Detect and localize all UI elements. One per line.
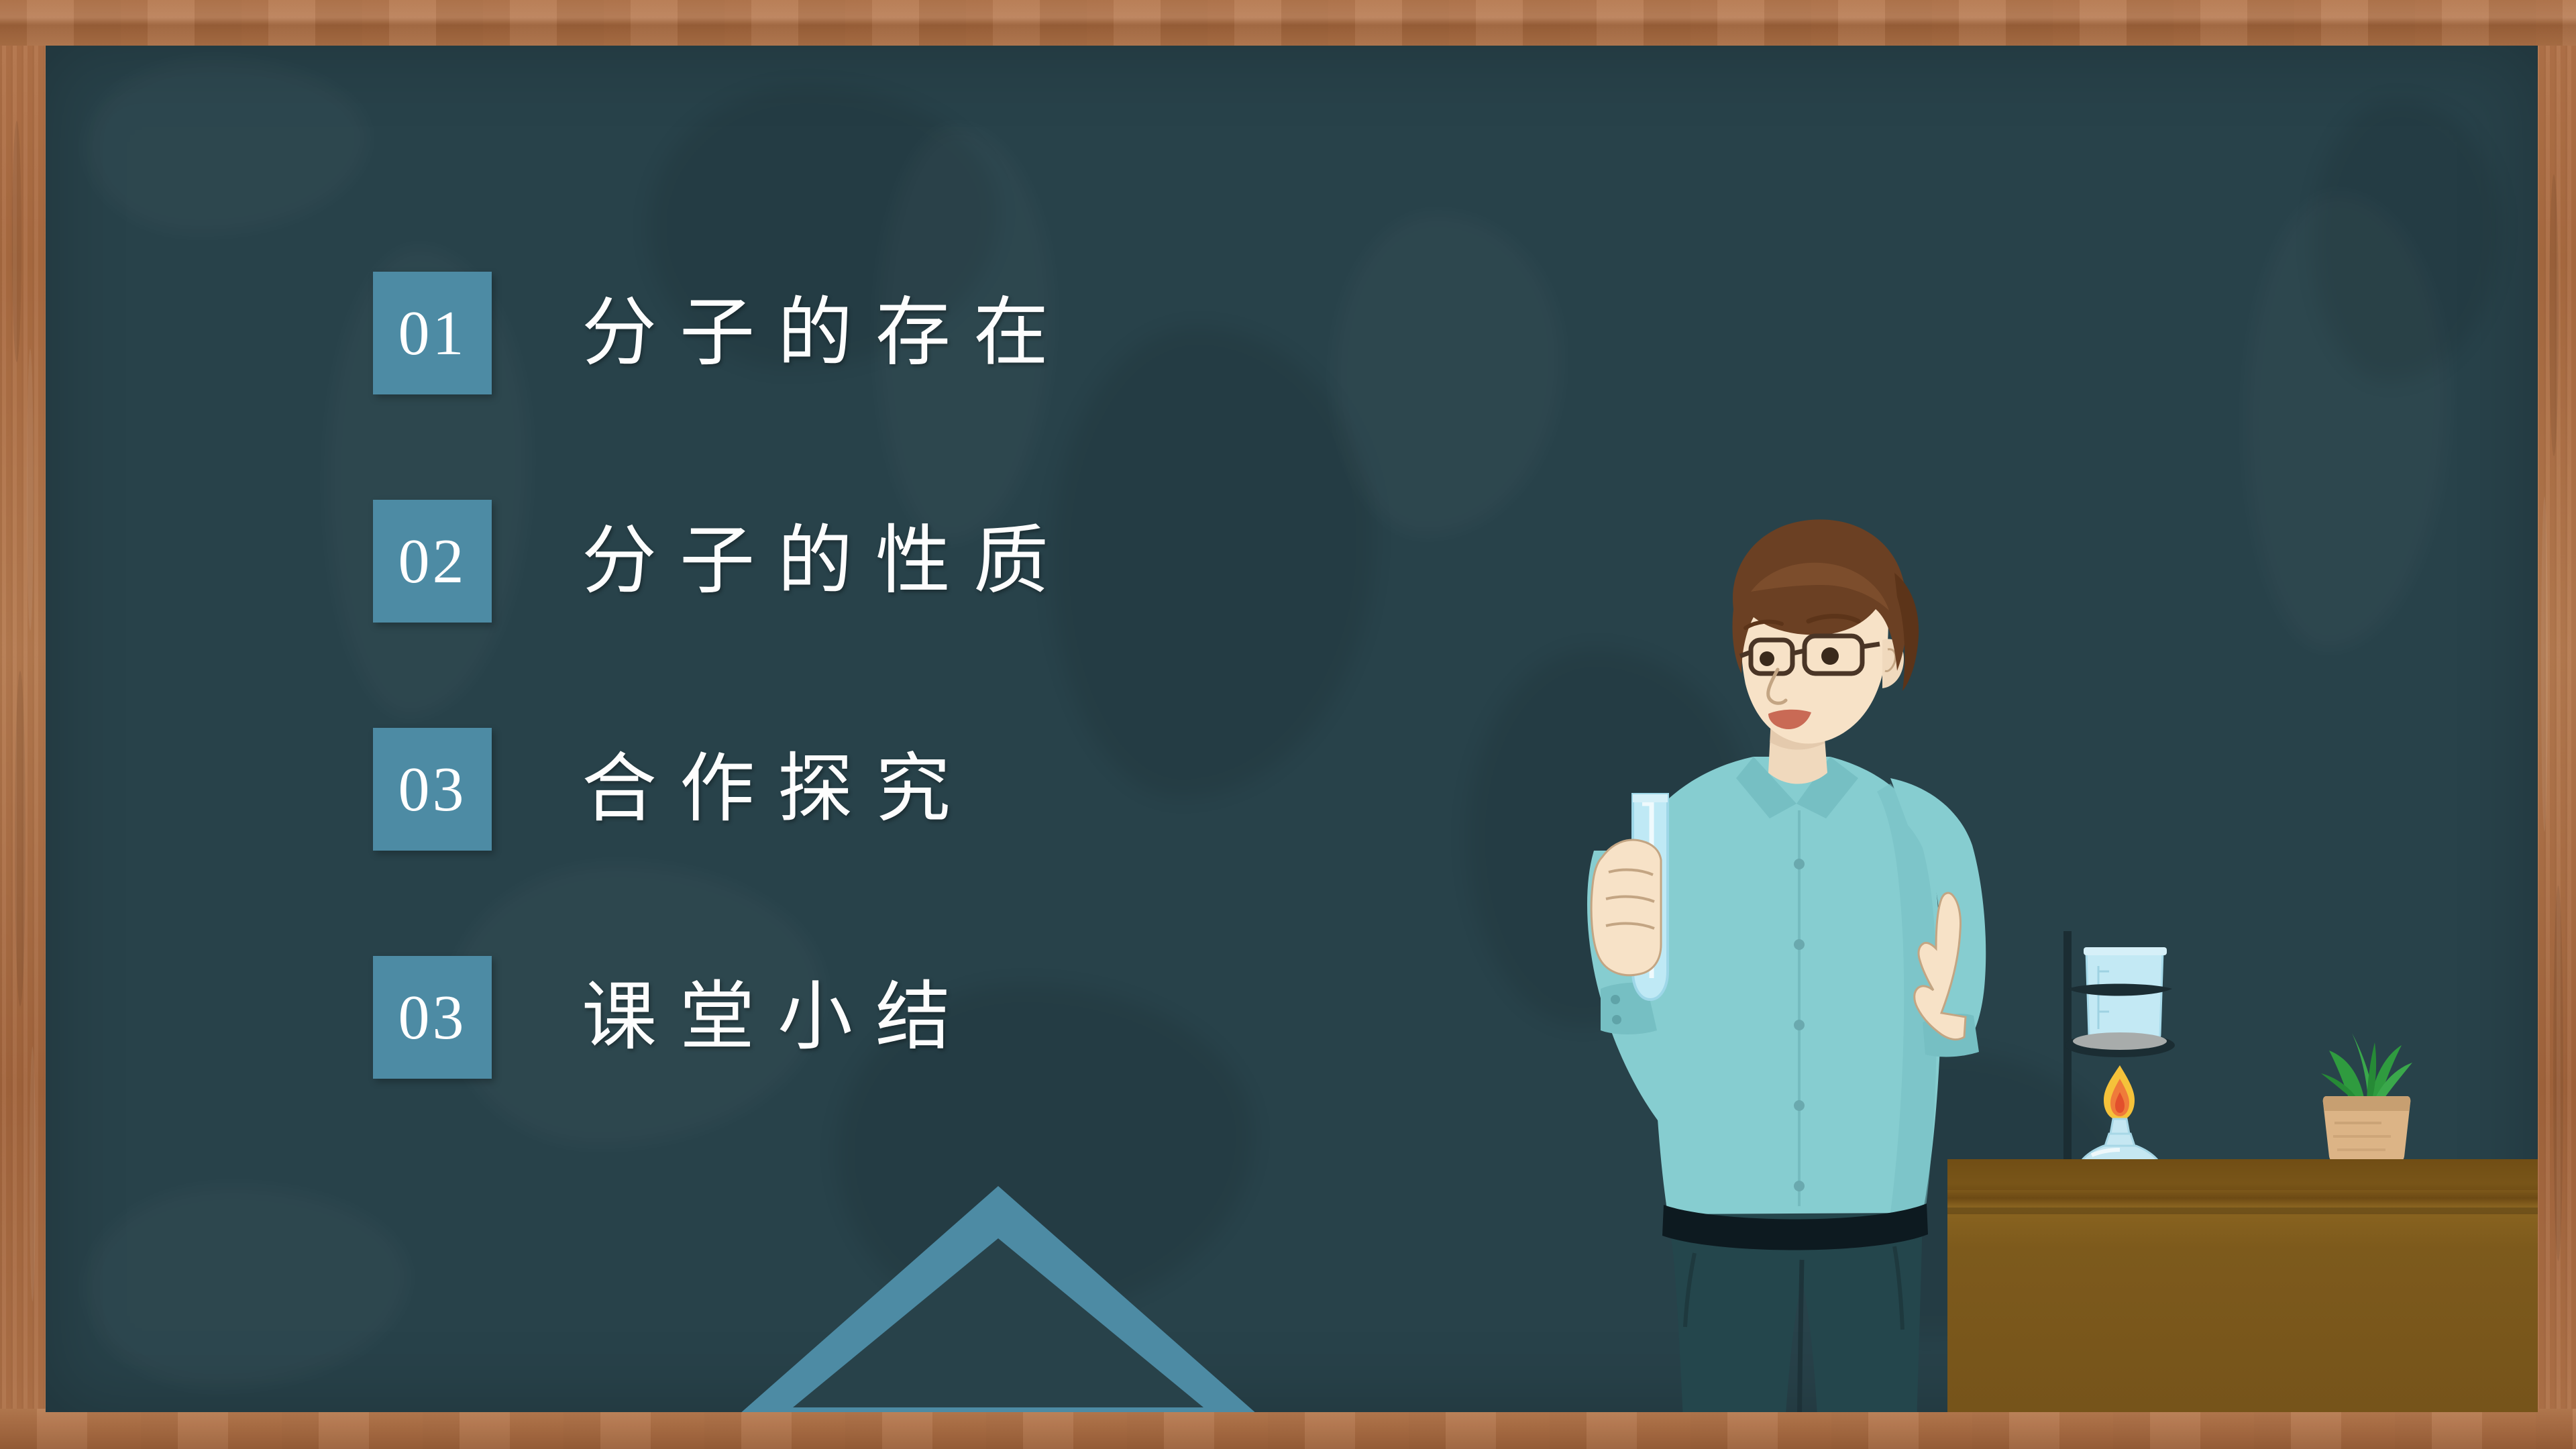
agenda-number-badge-2: 02 <box>373 500 492 623</box>
eye-left <box>1760 651 1774 666</box>
left-hand <box>1591 840 1661 975</box>
agenda-title-4: 课堂小结 <box>582 980 973 1055</box>
agenda-number-badge-4: 03 <box>373 956 492 1079</box>
teacher-figure <box>1515 515 1998 1412</box>
chalk-smudge <box>1334 213 1562 535</box>
agenda-title-3: 合作探究 <box>582 752 973 827</box>
shirt-button <box>1794 1100 1805 1111</box>
shirt-button <box>1794 1020 1805 1030</box>
agenda-item-4[interactable]: 03 课堂小结 <box>373 956 1312 1079</box>
shirt-button <box>1794 939 1805 950</box>
chalk-smudge <box>86 1186 408 1387</box>
plant-pot <box>2323 1096 2411 1163</box>
slide-canvas: 01 分子的存在 02 分子的性质 03 合作探究 03 课堂小结 <box>0 0 2576 1449</box>
shirt-button <box>1794 859 1805 869</box>
agenda-list: 01 分子的存在 02 分子的性质 03 合作探究 03 课堂小结 <box>373 272 1312 1184</box>
potted-plant <box>2306 1025 2427 1166</box>
shirt-button <box>1794 1181 1805 1191</box>
lab-desk <box>1947 1159 2538 1412</box>
agenda-item-3[interactable]: 03 合作探究 <box>373 728 1312 851</box>
agenda-title-2: 分子的性质 <box>582 524 1071 599</box>
desk-top-lip <box>1947 1159 2538 1190</box>
frame-bottom-rail <box>0 1409 2576 1449</box>
triangle-ruler <box>716 1186 1280 1412</box>
eye-right <box>1821 647 1839 665</box>
lab-apparatus <box>2045 924 2259 1179</box>
desk-edge-line <box>1947 1207 2538 1214</box>
beaker <box>2084 947 2167 1046</box>
chalk-smudge <box>2313 99 2501 381</box>
agenda-item-1[interactable]: 01 分子的存在 <box>373 272 1312 394</box>
wire-gauze <box>2073 1032 2167 1050</box>
flame-icon <box>2104 1065 2135 1120</box>
agenda-item-2[interactable]: 02 分子的性质 <box>373 500 1312 623</box>
ring-stand <box>2063 931 2072 1173</box>
agenda-number-badge-3: 03 <box>373 728 492 851</box>
plant-leaves <box>2321 1033 2412 1102</box>
chalk-smudge <box>86 59 368 233</box>
frame-top-rail <box>0 0 2576 46</box>
agenda-title-1: 分子的存在 <box>582 296 1071 371</box>
chalkboard-surface: 01 分子的存在 02 分子的性质 03 合作探究 03 课堂小结 <box>46 46 2538 1412</box>
agenda-number-badge-1: 01 <box>373 272 492 394</box>
